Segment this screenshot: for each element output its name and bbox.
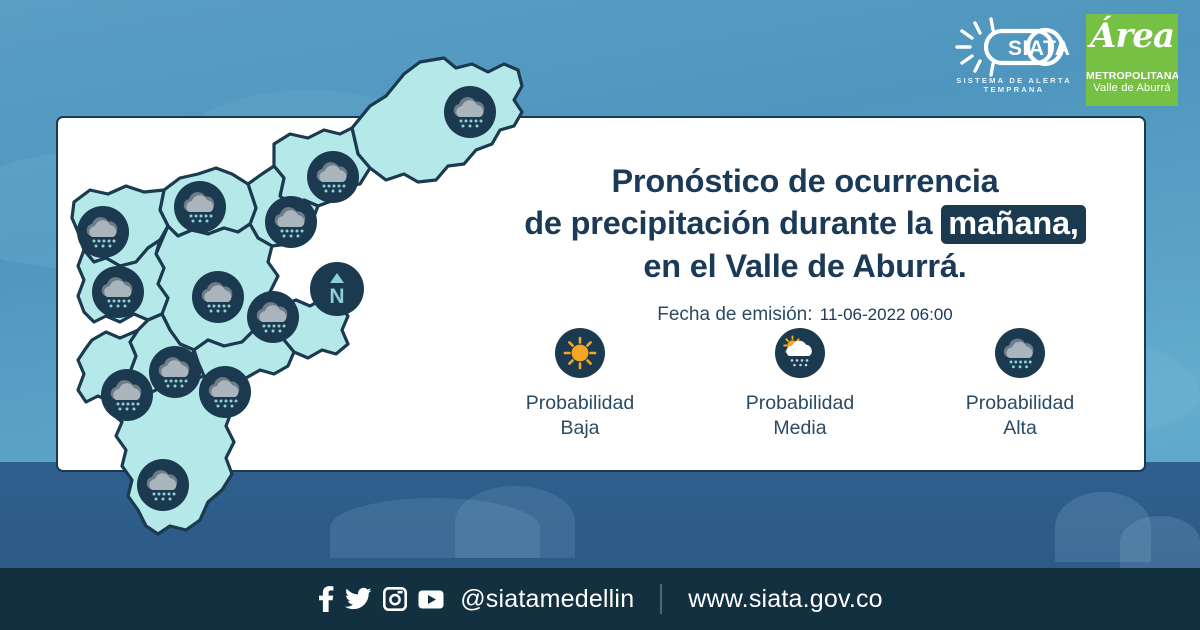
- emission-date-value: 11-06-2022 06:00: [820, 305, 953, 324]
- legend-label-alta: Probabilidad Alta: [966, 391, 1074, 442]
- legend-baja-line1: Probabilidad: [526, 391, 634, 416]
- map-weather-icon-copacabana[interactable]: [265, 196, 317, 248]
- amva-logo: Área METROPOLITANA Valle de Aburrá: [1086, 14, 1178, 106]
- title-line-2: de precipitación durante la mañana,: [470, 202, 1140, 244]
- map-weather-icon-itagui[interactable]: [149, 346, 201, 398]
- infographic-root: SIATA SISTEMA DE ALERTA TEMPRANA Área ME…: [0, 0, 1200, 630]
- title-line-2-text: de precipitación durante la: [524, 205, 932, 241]
- map-weather-icon-medellin[interactable]: [192, 271, 244, 323]
- rain-cloud-icon: [995, 328, 1045, 378]
- legend-item-alta[interactable]: Probabilidad Alta: [930, 328, 1110, 442]
- amva-script-text: Área: [1086, 16, 1178, 56]
- legend-item-baja[interactable]: Probabilidad Baja: [490, 328, 670, 442]
- social-handle[interactable]: @siatamedellin: [460, 585, 634, 614]
- map-weather-icon-bello[interactable]: [77, 206, 129, 258]
- amva-line1: METROPOLITANA: [1086, 70, 1178, 82]
- map-weather-icon-guarne[interactable]: [92, 266, 144, 318]
- compass-label: N: [329, 285, 344, 308]
- legend-media-line2: Media: [746, 416, 854, 441]
- emission-date-label: Fecha de emisión:: [657, 304, 812, 325]
- siata-logo: SIATA SISTEMA DE ALERTA TEMPRANA: [950, 14, 1078, 92]
- forecast-heading-block: Pronóstico de ocurrencia de precipitació…: [470, 160, 1140, 326]
- youtube-icon[interactable]: [418, 590, 444, 609]
- title-line-1: Pronóstico de ocurrencia: [470, 160, 1140, 202]
- amva-line2: Valle de Aburrá: [1086, 82, 1178, 94]
- page-title: Pronóstico de ocurrencia de precipitació…: [470, 160, 1140, 287]
- title-highlight-manana: mañana,: [941, 205, 1085, 243]
- legend-label-media: Probabilidad Media: [746, 391, 854, 442]
- legend-label-baja: Probabilidad Baja: [526, 391, 634, 442]
- map-weather-icon-san-pedro[interactable]: [174, 181, 226, 233]
- footer-bar: @siatamedellin www.siata.gov.co: [0, 568, 1200, 630]
- website-url[interactable]: www.siata.gov.co: [688, 585, 882, 614]
- legend-baja-line2: Baja: [526, 416, 634, 441]
- siata-tagline: SISTEMA DE ALERTA TEMPRANA: [946, 76, 1082, 94]
- twitter-icon[interactable]: [345, 587, 372, 611]
- legend-item-media[interactable]: Probabilidad Media: [710, 328, 890, 442]
- sun-cloud-rain-icon: [775, 328, 825, 378]
- map-weather-icon-caldas[interactable]: [137, 459, 189, 511]
- map-weather-icon-la-estrella[interactable]: [101, 369, 153, 421]
- compass-north-indicator: N: [310, 262, 364, 316]
- bottom-cloud-right-2: [1120, 516, 1200, 568]
- probability-legend: Probabilidad Baja: [470, 328, 1130, 442]
- legend-alta-line1: Probabilidad: [966, 391, 1074, 416]
- svg-text:SIATA: SIATA: [1008, 37, 1070, 60]
- legend-alta-line2: Alta: [966, 416, 1074, 441]
- instagram-icon[interactable]: [383, 587, 407, 611]
- map-weather-icon-envigado[interactable]: [247, 291, 299, 343]
- social-icons: [317, 586, 444, 612]
- emission-date: Fecha de emisión: 11-06-2022 06:00: [470, 304, 1140, 326]
- map-weather-icon-sabaneta[interactable]: [199, 366, 251, 418]
- footer-divider: [660, 584, 662, 614]
- title-line-3: en el Valle de Aburrá.: [470, 245, 1140, 287]
- siata-sun-cloud-icon: SIATA: [950, 14, 1078, 84]
- sun-icon: [555, 328, 605, 378]
- logo-group: SIATA SISTEMA DE ALERTA TEMPRANA Área ME…: [950, 14, 1178, 106]
- legend-media-line1: Probabilidad: [746, 391, 854, 416]
- facebook-icon[interactable]: [317, 586, 334, 612]
- map-weather-icon-barbosa[interactable]: [444, 86, 496, 138]
